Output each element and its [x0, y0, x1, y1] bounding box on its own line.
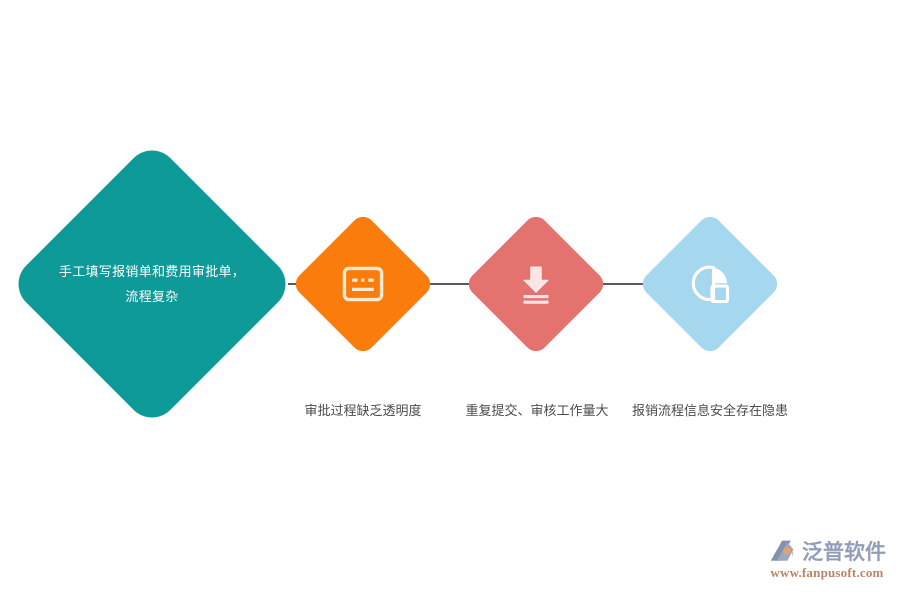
step-node-1[interactable] [291, 212, 435, 356]
step-node-3[interactable] [638, 212, 782, 356]
main-node-inner: 手工填写报销单和费用审批单， 流程复杂 [50, 182, 254, 386]
step-node-2-inner [485, 233, 587, 335]
step-node-3-inner [659, 233, 761, 335]
main-node-label: 手工填写报销单和费用审批单， 流程复杂 [50, 259, 254, 309]
step-node-1-inner [312, 233, 414, 335]
download-arrow-icon [513, 261, 559, 307]
main-node[interactable]: 手工填写报销单和费用审批单， 流程复杂 [8, 140, 296, 428]
step-node-2[interactable] [464, 212, 608, 356]
step-caption-3: 报销流程信息安全存在隐患 [630, 400, 790, 422]
watermark-brand-text: 泛普软件 [802, 539, 886, 565]
step-caption-1: 审批过程缺乏透明度 [283, 400, 443, 422]
watermark-brand-row: 泛普软件 [768, 538, 886, 566]
card-lines-icon [340, 261, 386, 307]
diagram-canvas: 手工填写报销单和费用审批单， 流程复杂 [0, 0, 900, 600]
circle-square-icon [687, 261, 733, 307]
watermark-url-text: www.fanpusoft.com [770, 565, 883, 581]
watermark-logo: 泛普软件 www.fanpusoft.com [768, 538, 886, 581]
fanpusoft-logo-icon [768, 538, 798, 566]
step-caption-2: 重复提交、审核工作量大 [457, 400, 617, 422]
